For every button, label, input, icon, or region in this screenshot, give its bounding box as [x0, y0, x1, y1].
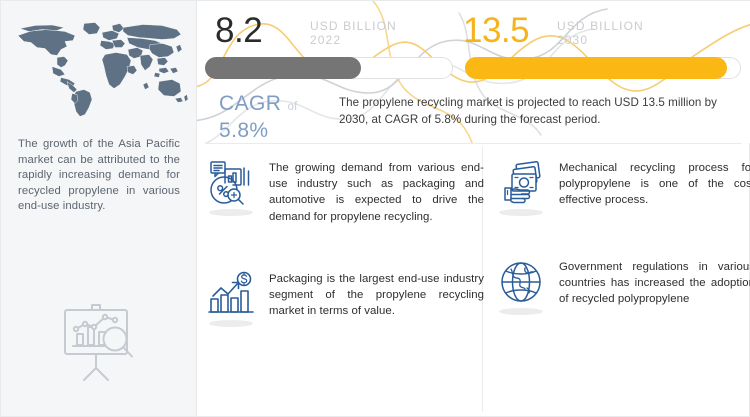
world-map-icon: [9, 17, 189, 125]
forecast-year-label: USD BILLION 2030: [557, 20, 644, 47]
forecast-year-value: 13.5: [463, 13, 529, 48]
base-year-label: USD BILLION 2022: [310, 20, 397, 47]
infographic-root: The growth of the Asia Pacific market ca…: [0, 0, 750, 417]
base-year-bar-track: [205, 57, 453, 79]
forecast-year-bar-track: [465, 57, 741, 79]
sidebar-description: The growth of the Asia Pacific market ca…: [18, 137, 180, 215]
market-size-panel: 8.2 USD BILLION 2022 13.5 USD BILLION 20…: [197, 1, 750, 143]
insight-text: The growing demand from various end-use …: [269, 160, 484, 225]
cagr-block: CAGR of 5.8%: [219, 93, 349, 141]
forecast-year-unit: USD BILLION: [557, 20, 644, 34]
insight-text: Packaging is the largest end-use industr…: [269, 271, 484, 320]
base-year-year: 2022: [310, 34, 397, 48]
presentation-chart-magnifier-icon: [53, 301, 145, 383]
insight-text: Government regulations in various countr…: [559, 259, 750, 308]
icon-shadow: [209, 320, 253, 327]
icon-shadow: [209, 209, 253, 216]
sidebar: The growth of the Asia Pacific market ca…: [1, 1, 197, 416]
hand-holding-cash-icon: [497, 159, 545, 207]
horizontal-divider: [205, 143, 742, 144]
base-year-bar-fill: [205, 57, 361, 79]
forecast-year-year: 2030: [557, 34, 644, 48]
market-summary-text: The propylene recycling market is projec…: [339, 95, 739, 128]
base-year-value: 8.2: [215, 13, 262, 48]
insight-card-grid: The growing demand from various end-use …: [197, 143, 750, 416]
insight-text: Mechanical recycling process for polypro…: [559, 160, 750, 209]
forecast-year-bar-fill: [465, 57, 727, 79]
icon-shadow: [499, 308, 543, 315]
globe-icon: [497, 258, 545, 306]
document-bar-chart-percent-magnifier-icon: [207, 159, 255, 207]
cagr-label: CAGR: [219, 92, 281, 115]
icon-shadow: [499, 209, 543, 216]
cagr-of-label: of: [288, 101, 298, 113]
cagr-value: 5.8%: [219, 120, 349, 141]
bar-chart-growth-dollar-icon: [207, 270, 255, 318]
base-year-unit: USD BILLION: [310, 20, 397, 34]
